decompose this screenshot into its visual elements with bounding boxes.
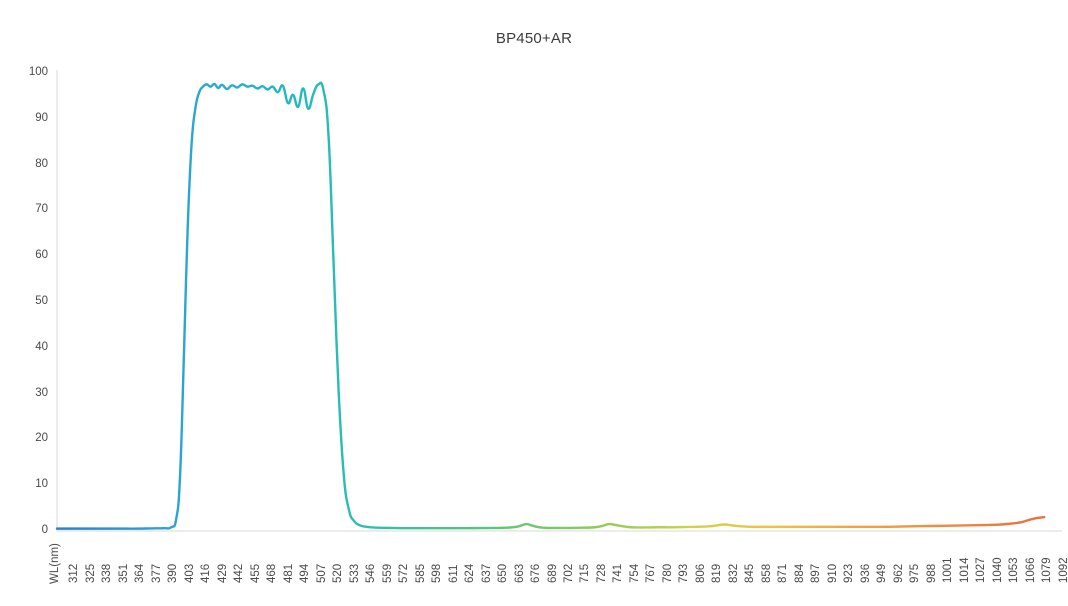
x-tick-label: 481 [284,564,296,583]
plot-area [0,0,1068,606]
x-tick-label: 585 [416,564,428,583]
x-tick-label: 559 [383,564,395,583]
x-tick-label: 832 [729,564,741,583]
y-tick-label: 60 [8,249,48,261]
x-tick-label: 780 [663,564,675,583]
x-tick-label: 1027 [976,557,988,583]
x-tick-label: 871 [778,564,790,583]
x-tick-label: 962 [894,564,906,583]
y-tick-label: 40 [8,341,48,353]
x-tick-label: 741 [613,564,625,583]
x-tick-label: 1066 [1026,557,1038,583]
x-tick-label: 507 [317,564,329,583]
y-tick-label: 20 [8,432,48,444]
x-tick-label: 845 [745,564,757,583]
x-tick-label: 936 [861,564,873,583]
x-tick-label: 377 [152,564,164,583]
y-tick-label: 80 [8,158,48,170]
x-tick-label: 364 [135,564,147,583]
x-tick-label: 806 [696,564,708,583]
x-tick-label: 728 [597,564,609,583]
x-tick-label: 390 [168,564,180,583]
x-tick-label: 611 [449,565,461,583]
x-tick-label: 650 [498,564,510,583]
x-tick-label: 468 [267,564,279,583]
x-tick-label: 702 [564,564,576,583]
x-tick-label: 949 [877,564,889,583]
x-tick-label: 858 [762,564,774,583]
x-tick-label: 910 [828,564,840,583]
x-tick-label: 325 [86,564,98,583]
x-tick-label: 988 [927,564,939,583]
x-tick-label: 676 [531,564,543,583]
x-tick-label: 533 [350,564,362,583]
x-tick-label: 715 [580,564,592,583]
y-tick-label: 90 [8,112,48,124]
axis-lines [57,70,1062,531]
x-tick-label: 1001 [943,557,955,583]
x-tick-label: 416 [201,564,213,583]
x-tick-label: 975 [910,564,922,583]
x-tick-label: 1092 [1059,557,1068,583]
x-tick-label: 546 [366,564,378,583]
y-tick-label: 50 [8,295,48,307]
x-tick-label: 793 [679,564,691,583]
series-transmission-line [57,83,1044,529]
x-tick-label: 520 [333,564,345,583]
y-tick-label: 70 [8,203,48,215]
x-tick-label: 1079 [1042,557,1054,583]
x-tick-label: 403 [185,564,197,583]
x-tick-label: 884 [795,564,807,583]
x-tick-label: 897 [811,564,823,583]
x-tick-label: 663 [515,564,527,583]
chart-container: BP450+AR 0102030405060708090100 3123 [0,0,1068,606]
x-tick-label: 572 [399,564,411,583]
x-tick-label: 1014 [960,557,972,583]
y-tick-label: 30 [8,387,48,399]
x-tick-label: 689 [548,564,560,583]
y-tick-label: 10 [8,478,48,490]
y-tick-label: 100 [8,66,48,78]
x-tick-label: 767 [646,564,658,583]
x-tick-label: 637 [482,564,494,583]
x-tick-label: 754 [630,564,642,583]
x-tick-label: 494 [300,564,312,583]
y-tick-label: 0 [8,524,48,536]
x-tick-label: 1053 [1009,557,1021,583]
x-tick-label: 624 [465,564,477,583]
x-tick-label: 338 [102,564,114,583]
x-tick-label: 923 [844,564,856,583]
x-tick-label: 429 [218,564,230,583]
x-tick-label: 455 [251,564,263,583]
x-tick-label: 598 [432,564,444,583]
x-axis-title: WL(nm) [50,543,62,584]
x-tick-label: 1040 [993,557,1005,583]
x-tick-label: 312 [69,564,81,583]
x-tick-label: 351 [119,564,131,583]
x-tick-label: 442 [234,564,246,583]
x-tick-label: 819 [712,564,724,583]
